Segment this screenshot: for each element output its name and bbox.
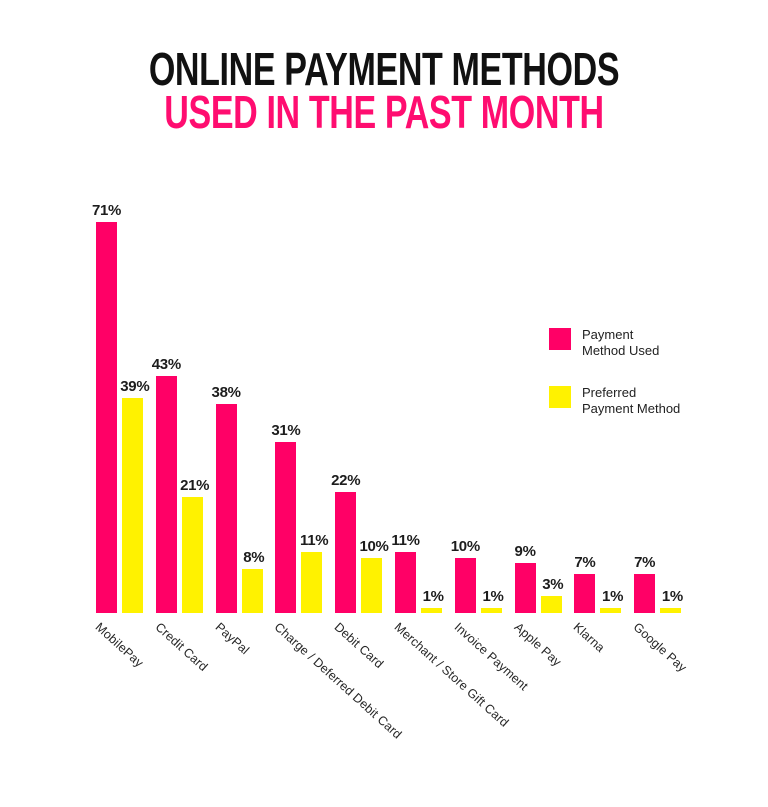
bar-payment-method-used: 7% — [634, 574, 655, 613]
legend-item-preferred-payment-method: Preferred Payment Method — [549, 385, 680, 417]
x-axis-category-label: MobilePay — [93, 620, 146, 670]
x-axis-category-label: Apple Pay — [511, 620, 563, 669]
chart-legend: Payment Method Used Preferred Payment Me… — [549, 327, 680, 442]
x-axis-category-label: Charge / Deferred Debit Card — [272, 620, 405, 742]
bar-chart: 71%39%MobilePay43%21%Credit Card38%8%Pay… — [0, 0, 768, 807]
bar-value-label: 21% — [180, 477, 209, 494]
bar-payment-method-used: 11% — [395, 552, 416, 613]
x-axis-category-label: Credit Card — [152, 620, 210, 674]
bar-preferred-payment-method: 11% — [301, 552, 322, 613]
bar-group: 31%11%Charge / Deferred Debit Card — [267, 200, 313, 613]
bar-group: 10%1%Invoice Payment — [447, 200, 493, 613]
bar-preferred-payment-method: 1% — [600, 608, 621, 614]
bar-value-label: 3% — [542, 576, 563, 593]
bar-payment-method-used: 22% — [335, 492, 356, 613]
legend-label-used: Payment Method Used — [582, 327, 659, 359]
bar-value-label: 1% — [602, 588, 623, 605]
bar-value-label: 10% — [451, 538, 480, 555]
bar-payment-method-used: 43% — [156, 376, 177, 613]
bar-value-label: 9% — [515, 543, 536, 560]
bar-value-label: 31% — [271, 422, 300, 439]
bar-group: 38%8%PayPal — [208, 200, 254, 613]
legend-item-payment-method-used: Payment Method Used — [549, 327, 680, 359]
bar-value-label: 71% — [92, 202, 121, 219]
bar-value-label: 38% — [212, 384, 241, 401]
bar-preferred-payment-method: 1% — [660, 608, 681, 614]
bar-value-label: 1% — [423, 588, 444, 605]
bar-preferred-payment-method: 1% — [421, 608, 442, 614]
legend-swatch-icon-preferred — [549, 386, 571, 408]
bar-preferred-payment-method: 10% — [361, 558, 382, 613]
bar-payment-method-used: 10% — [455, 558, 476, 613]
bar-value-label: 8% — [243, 549, 264, 566]
bar-value-label: 7% — [574, 554, 595, 571]
x-axis-category-label: Debit Card — [332, 620, 387, 671]
bar-preferred-payment-method: 3% — [541, 596, 562, 613]
bar-payment-method-used: 71% — [96, 222, 117, 613]
bar-group: 43%21%Credit Card — [148, 200, 194, 613]
bar-value-label: 7% — [634, 554, 655, 571]
bar-group: 71%39%MobilePay — [88, 200, 134, 613]
bar-group: 22%10%Debit Card — [327, 200, 373, 613]
bar-value-label: 11% — [300, 532, 328, 549]
bar-payment-method-used: 31% — [275, 442, 296, 613]
bar-preferred-payment-method: 39% — [122, 398, 143, 613]
bar-payment-method-used: 9% — [515, 563, 536, 613]
bar-preferred-payment-method: 1% — [481, 608, 502, 614]
bar-value-label: 1% — [662, 588, 683, 605]
bar-group: 11%1%Merchant / Store Gift Card — [387, 200, 433, 613]
bar-payment-method-used: 7% — [574, 574, 595, 613]
x-axis-category-label: Merchant / Store Gift Card — [392, 620, 512, 730]
bar-preferred-payment-method: 8% — [242, 569, 263, 613]
bar-group: 9%3%Apple Pay — [507, 200, 553, 613]
legend-swatch-icon-used — [549, 328, 571, 350]
bar-value-label: 22% — [331, 472, 360, 489]
bar-payment-method-used: 38% — [216, 404, 237, 613]
bar-value-label: 43% — [152, 356, 181, 373]
x-axis-category-label: PayPal — [212, 620, 251, 657]
bar-value-label: 10% — [359, 538, 388, 555]
bar-value-label: 39% — [120, 378, 149, 395]
legend-label-preferred: Preferred Payment Method — [582, 385, 680, 417]
bar-value-label: 1% — [482, 588, 503, 605]
bar-preferred-payment-method: 21% — [182, 497, 203, 613]
bar-value-label: 11% — [391, 532, 419, 549]
x-axis-category-label: Klarna — [571, 620, 608, 655]
x-axis-category-label: Google Pay — [631, 620, 690, 675]
